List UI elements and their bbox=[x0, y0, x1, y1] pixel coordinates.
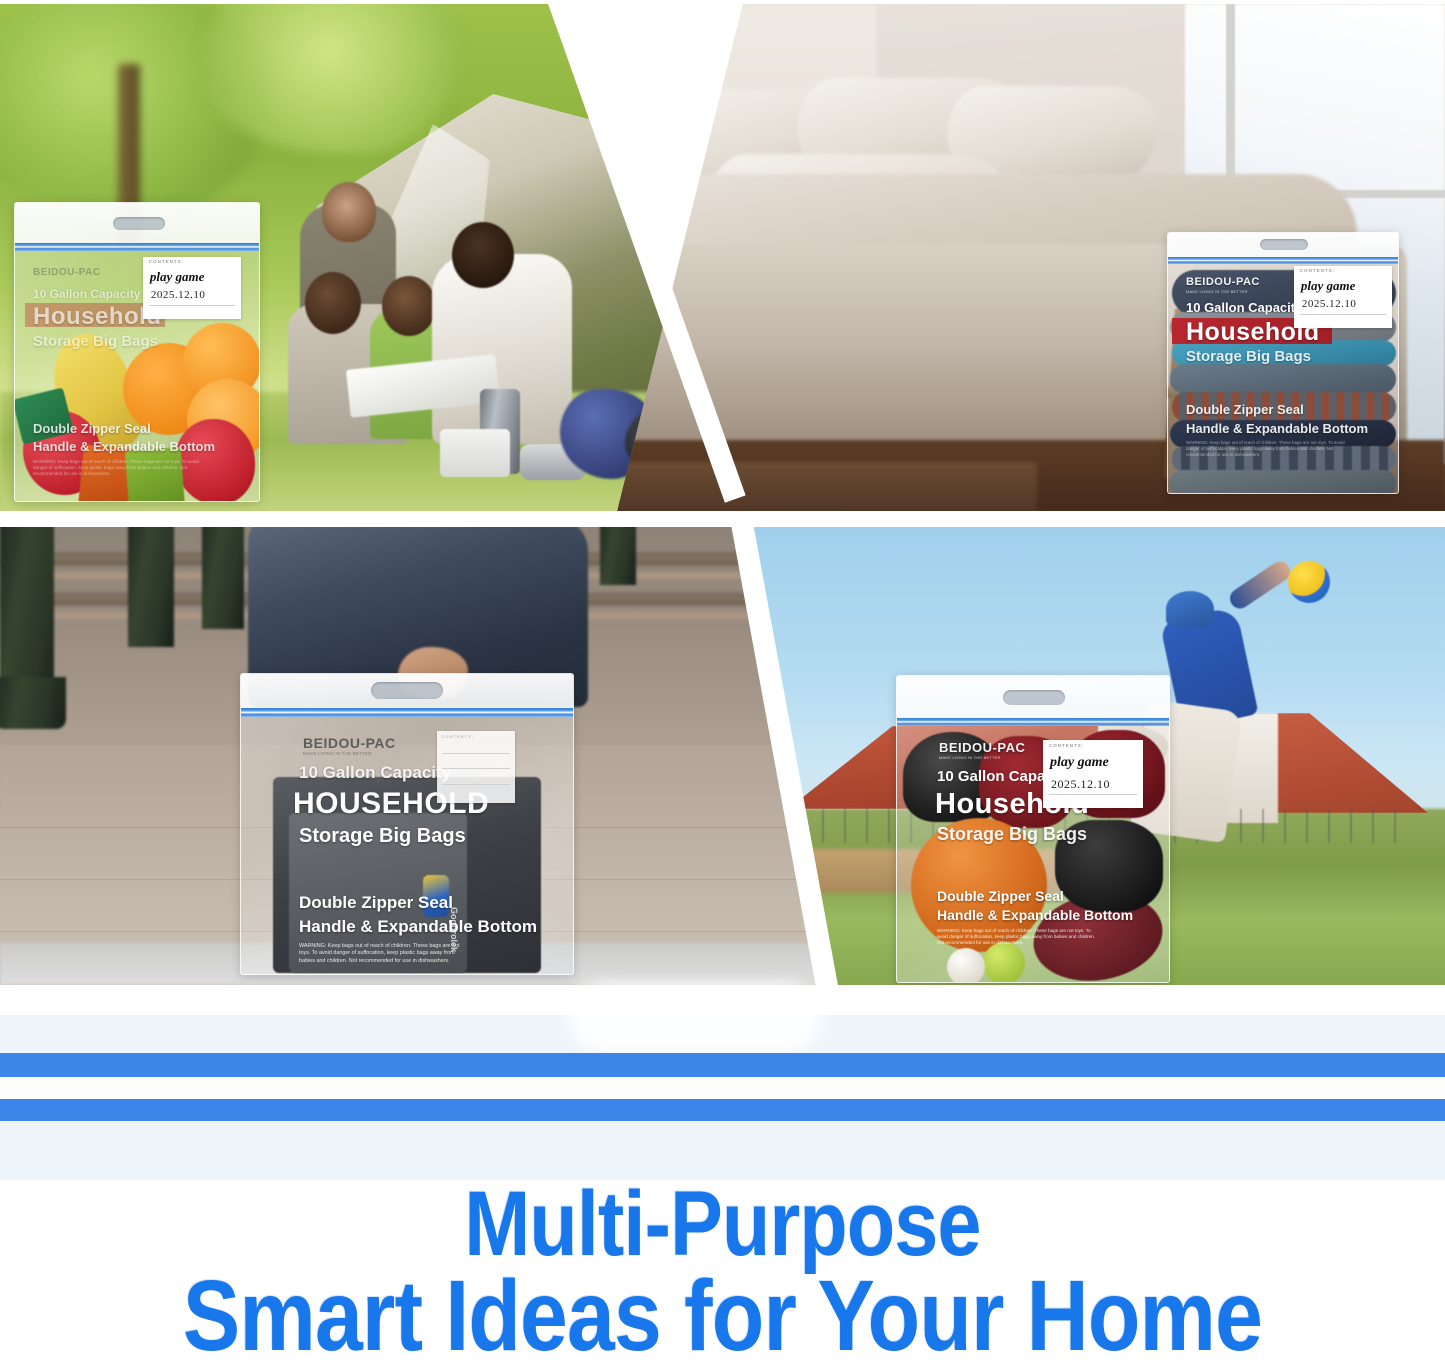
divider-stripe-bottom bbox=[0, 1099, 1445, 1121]
panel-camping: BEIDOU-PAC 10 Gallon Capacity Household … bbox=[0, 4, 735, 512]
bag-handle-cutout bbox=[1003, 690, 1065, 705]
label-contents-header: CONTENTS: bbox=[149, 259, 184, 264]
bottom-banner: Multi-Purpose Smart Ideas for Your Home bbox=[0, 1005, 1445, 1365]
bag-feature-1-text: Double Zipper Seal bbox=[33, 421, 151, 436]
label-rule bbox=[442, 753, 511, 754]
bag-window: BEIDOU-PAC MAKE LIVING IN THE BETTER 10 … bbox=[1168, 264, 1398, 494]
bag-handle-cutout bbox=[113, 217, 165, 230]
panel-platform: BEIDOU-PAC MAKE LIVING IN THE BETTER 10 … bbox=[0, 527, 825, 985]
bag-contents-label: CONTENTS: play game 2025.12.10 bbox=[143, 257, 241, 319]
ball-yellow-blue bbox=[1288, 561, 1330, 603]
divider-top-edge bbox=[0, 0, 1445, 4]
bag-subtitle-text: Storage Big Bags bbox=[1186, 348, 1311, 365]
panel-bedroom: BEIDOU-PAC MAKE LIVING IN THE BETTER 10 … bbox=[617, 4, 1445, 512]
person-head-icon bbox=[382, 276, 436, 336]
product-bag-bedroom: BEIDOU-PAC MAKE LIVING IN THE BETTER 10 … bbox=[1167, 232, 1399, 494]
label-line-2: 2025.12.10 bbox=[1302, 298, 1357, 310]
bag-capacity-text: 10 Gallon Capacity bbox=[1186, 300, 1302, 315]
label-contents-header: CONTENTS: bbox=[1049, 743, 1084, 748]
divider-bottom-edge bbox=[0, 985, 1445, 1015]
bag-brand-text: BEIDOU-PAC bbox=[1186, 276, 1260, 288]
label-rule bbox=[1300, 314, 1386, 315]
platform-pillar-base bbox=[0, 677, 66, 729]
bag-subtitle-text: Storage Big Bags bbox=[299, 825, 466, 848]
bag-feature-1-text: Double Zipper Seal bbox=[299, 893, 453, 913]
bag-contents-label: CONTENTS: play game 2025.12.10 bbox=[1294, 266, 1392, 328]
bag-contents-clothes bbox=[1170, 470, 1396, 494]
label-line-1: play game bbox=[1050, 755, 1109, 771]
cooler-box bbox=[440, 429, 510, 477]
bag-capacity-text: 10 Gallon Capacity bbox=[299, 763, 451, 783]
label-rule bbox=[442, 784, 511, 785]
bag-warning-text: WARNING: Keep bags out of reach of child… bbox=[33, 459, 209, 478]
platform-pillar bbox=[600, 527, 636, 585]
platform-pillar bbox=[128, 527, 174, 647]
bag-zipper-strip bbox=[241, 708, 573, 717]
bag-zipper-strip bbox=[897, 718, 1169, 726]
label-line-2: 2025.12.10 bbox=[151, 289, 206, 301]
label-line-1: play game bbox=[150, 269, 205, 285]
person-head-icon bbox=[322, 182, 376, 242]
bag-subtitle-text: Storage Big Bags bbox=[33, 333, 158, 350]
headline-block: Multi-Purpose Smart Ideas for Your Home bbox=[0, 1180, 1445, 1365]
bag-window: BEIDOU-PAC MAKE LIVING IN THE BETTER 10 … bbox=[897, 726, 1169, 983]
panel-sports: BEIDOU-PAC MAKE LIVING IN THE BETTER 10 … bbox=[718, 527, 1445, 985]
bag-brand-text: BEIDOU-PAC bbox=[939, 740, 1025, 755]
person-head-icon bbox=[305, 272, 361, 334]
bag-feature-2-text: Handle & Expandable Bottom bbox=[937, 907, 1133, 923]
bag-feature-2-text: Handle & Expandable Bottom bbox=[1186, 421, 1368, 436]
label-line-2: 2025.12.10 bbox=[1051, 777, 1110, 792]
bag-contents-label: CONTENTS: play game 2025.12.10 bbox=[1043, 740, 1143, 808]
bag-window: BEIDOU-PAC MAKE LIVING IN THE BETTER 10 … bbox=[241, 717, 573, 975]
bag-handle-cutout bbox=[371, 682, 443, 699]
bag-feature-2-text: Handle & Expandable Bottom bbox=[299, 917, 537, 937]
image-collage: BEIDOU-PAC 10 Gallon Capacity Household … bbox=[0, 0, 1445, 1015]
bag-brand-tagline: MAKE LIVING IN THE BETTER bbox=[939, 755, 1001, 760]
platform-pillar bbox=[202, 527, 244, 629]
bag-feature-1-text: Double Zipper Seal bbox=[937, 888, 1064, 904]
label-contents-header: CONTENTS: bbox=[442, 734, 474, 739]
person-head-icon bbox=[452, 222, 514, 288]
bag-feature-2-text: Handle & Expandable Bottom bbox=[33, 439, 215, 454]
bag-feature-1-text: Double Zipper Seal bbox=[1186, 402, 1304, 417]
product-bag-platform: BEIDOU-PAC MAKE LIVING IN THE BETTER 10 … bbox=[240, 673, 574, 975]
label-rule bbox=[1049, 794, 1137, 795]
bag-contents-label: CONTENTS: bbox=[437, 731, 515, 803]
divider-stripe-gap bbox=[0, 1077, 1445, 1099]
bag-handle-cutout bbox=[1260, 239, 1308, 250]
bag-warning-text: WARNING: Keep bags out of reach of child… bbox=[299, 943, 469, 965]
label-rule bbox=[149, 305, 235, 306]
bag-contents-baseball bbox=[947, 948, 985, 983]
bag-contents-tennis-ball bbox=[983, 942, 1025, 983]
product-bag-sports: BEIDOU-PAC MAKE LIVING IN THE BETTER 10 … bbox=[896, 675, 1170, 983]
divider-horizontal bbox=[0, 511, 1445, 527]
bedroom-rug bbox=[617, 462, 1037, 512]
headline-line-1: Multi-Purpose bbox=[101, 1180, 1344, 1268]
bag-warning-text: WARNING: Keep bags out of reach of child… bbox=[937, 928, 1097, 947]
player-head-cap-icon bbox=[1166, 591, 1214, 627]
bag-window: BEIDOU-PAC 10 Gallon Capacity Household … bbox=[15, 251, 259, 502]
bag-capacity-text: 10 Gallon Capacity bbox=[33, 287, 140, 301]
bag-zipper-strip bbox=[1168, 257, 1398, 264]
bag-brand-tagline: MAKE LIVING IN THE BETTER bbox=[303, 751, 372, 756]
headline-line-2: Smart Ideas for Your Home bbox=[101, 1268, 1344, 1364]
label-contents-header: CONTENTS: bbox=[1300, 268, 1335, 273]
bag-brand-text: BEIDOU-PAC bbox=[33, 267, 101, 278]
divider-stripe-top bbox=[0, 1053, 1445, 1077]
label-line-1: play game bbox=[1301, 278, 1356, 294]
bag-brand-text: BEIDOU-PAC bbox=[303, 735, 396, 751]
bag-subtitle-text: Storage Big Bags bbox=[937, 824, 1087, 845]
bag-zipper-strip bbox=[15, 243, 259, 251]
product-bag-camping: BEIDOU-PAC 10 Gallon Capacity Household … bbox=[14, 202, 260, 502]
label-rule bbox=[442, 768, 511, 769]
bag-side-brand-text: Gogorolek bbox=[449, 907, 459, 952]
bag-warning-text: WARNING: Keep bags out of reach of child… bbox=[1186, 440, 1352, 458]
bag-brand-tagline: MAKE LIVING IN THE BETTER bbox=[1186, 289, 1248, 294]
bag-contents-clothes bbox=[1170, 364, 1396, 394]
